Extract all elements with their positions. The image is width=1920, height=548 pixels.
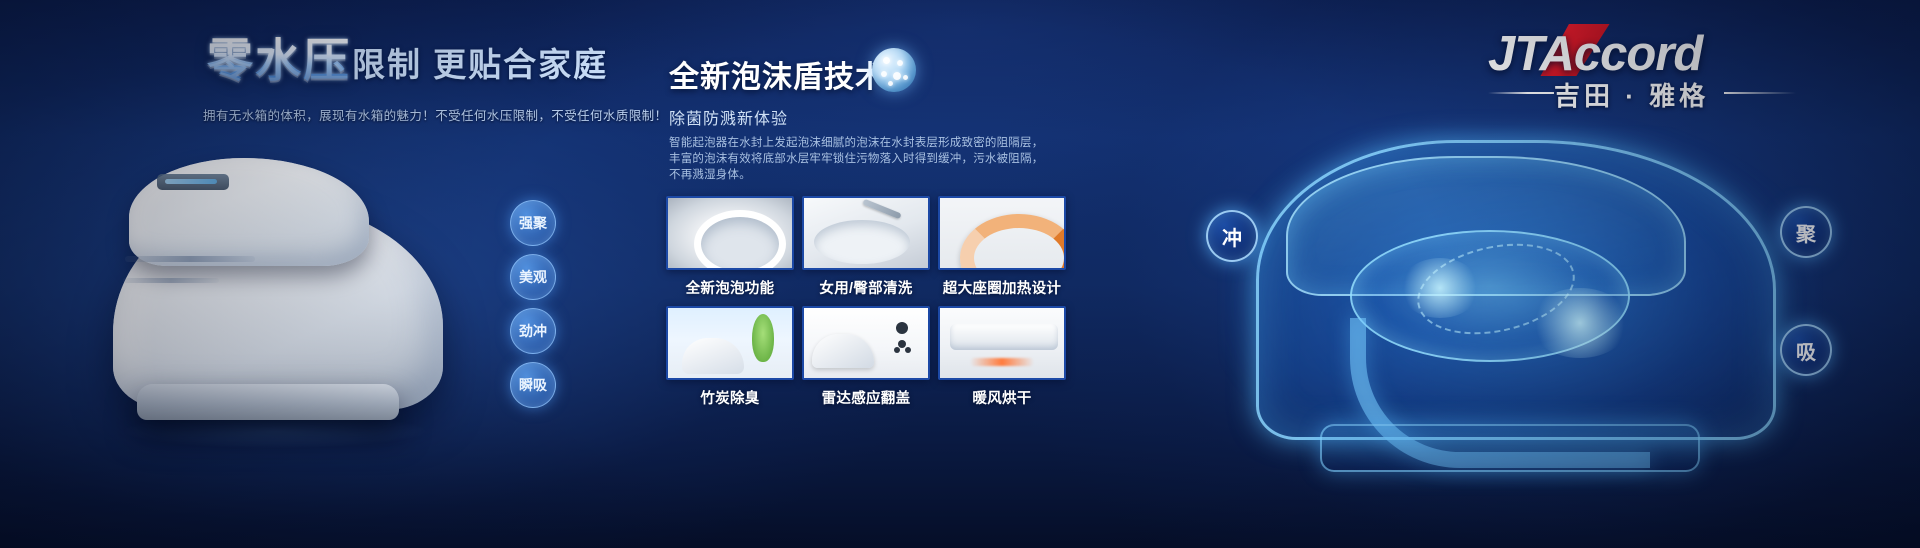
toilet-seam-secondary — [123, 278, 219, 283]
xray-jet-glow — [1400, 258, 1480, 318]
right-panel: JTAccord 吉田 · 雅格 冲 聚 吸 — [1140, 0, 1920, 548]
logo-chinese-name: 吉田 · 雅格 — [1554, 76, 1709, 113]
toilet-base — [137, 384, 399, 420]
center-panel: 全新泡沫盾技术 除菌防溅新体验 智能起泡器在水封上发起泡沫细腻的泡沫在水封表层形… — [640, 0, 1140, 548]
foam-bubble-icon — [872, 48, 916, 92]
brand-logo[interactable]: JTAccord 吉田 · 雅格 — [1488, 22, 1828, 114]
paragraph-line: 不再溅湿身体。 — [669, 167, 999, 183]
feature-tile-radar-auto-lid[interactable]: 雷达感应翻盖 — [802, 306, 930, 408]
feature-tile-image — [666, 306, 794, 380]
badge-instant-suction[interactable]: 瞬吸 — [510, 362, 556, 408]
feature-tile-caption: 超大座圈加热设计 — [938, 277, 1066, 298]
badge-gather[interactable]: 聚 — [1780, 206, 1832, 258]
badge-power-flush[interactable]: 劲冲 — [510, 308, 556, 354]
logo-rule-left — [1488, 92, 1554, 94]
center-subtitle: 除菌防溅新体验 — [669, 105, 788, 129]
feature-tile-image — [802, 196, 930, 270]
xray-jet-glow — [1530, 288, 1630, 358]
feature-tile-caption: 竹炭除臭 — [666, 387, 794, 408]
center-paragraph: 智能起泡器在水封上发起泡沫细腻的泡沫在水封表层形成致密的阻隔层， 丰富的泡沫有效… — [669, 135, 999, 183]
xray-base — [1320, 424, 1700, 472]
page-subtitle: 限制 更贴合家庭 — [352, 48, 608, 81]
promo-banner: 零水压 限制 更贴合家庭 拥有无水箱的体积，展现有水箱的魅力！不受任何水压限制，… — [0, 0, 1920, 548]
paragraph-line: 智能起泡器在水封上发起泡沫细腻的泡沫在水封表层形成致密的阻隔层， — [669, 135, 999, 151]
lead-description: 拥有无水箱的体积，展现有水箱的魅力！不受任何水压限制，不受任何水质限制！ — [203, 105, 667, 124]
feature-tile-foam-function[interactable]: 全新泡泡功能 — [666, 196, 794, 298]
logo-rule-right — [1724, 92, 1796, 94]
feature-tile-image — [666, 196, 794, 270]
page-title: 零水压 — [207, 37, 351, 83]
feature-tile-image — [938, 196, 1066, 270]
feature-tile-heated-seat[interactable]: 超大座圈加热设计 — [938, 196, 1066, 298]
toilet-control-panel — [157, 174, 229, 190]
feature-tile-image — [802, 306, 930, 380]
toilet-seam — [125, 256, 255, 262]
feature-tile-image — [938, 306, 1066, 380]
badge-strong-gather[interactable]: 强聚 — [510, 200, 556, 246]
feature-tile-grid: 全新泡泡功能 女用/臀部清洗 超大座圈加热设计 竹炭除臭 雷 — [666, 196, 1106, 416]
badge-suction[interactable]: 吸 — [1780, 324, 1832, 376]
center-title: 全新泡沫盾技术 — [669, 52, 886, 96]
feature-tile-feminine-rear-wash[interactable]: 女用/臀部清洗 — [802, 196, 930, 298]
xray-toilet-cutaway-illustration: 冲 聚 吸 — [1200, 118, 1840, 518]
feature-tile-row: 竹炭除臭 雷达感应翻盖 暖风烘干 — [666, 306, 1106, 408]
feature-tile-caption: 暖风烘干 — [938, 387, 1066, 408]
feature-tile-bamboo-charcoal-deodorize[interactable]: 竹炭除臭 — [666, 306, 794, 408]
badge-flush[interactable]: 冲 — [1206, 210, 1258, 262]
feature-tile-caption: 女用/臀部清洗 — [802, 277, 930, 298]
paragraph-line: 丰富的泡沫有效将底部水层牢牢锁住污物落入时得到缓冲，污水被阻隔， — [669, 151, 999, 167]
feature-tile-caption: 雷达感应翻盖 — [802, 387, 930, 408]
smart-toilet-product-photo — [95, 128, 465, 448]
left-panel: 零水压 限制 更贴合家庭 拥有无水箱的体积，展现有水箱的魅力！不受任何水压限制，… — [0, 0, 640, 548]
feature-tile-warm-air-dry[interactable]: 暖风烘干 — [938, 306, 1066, 408]
badge-aesthetic[interactable]: 美观 — [510, 254, 556, 300]
feature-tile-row: 全新泡泡功能 女用/臀部清洗 超大座圈加热设计 — [666, 196, 1106, 298]
logo-wordmark: JTAccord — [1488, 26, 1702, 82]
feature-tile-caption: 全新泡泡功能 — [666, 277, 794, 298]
